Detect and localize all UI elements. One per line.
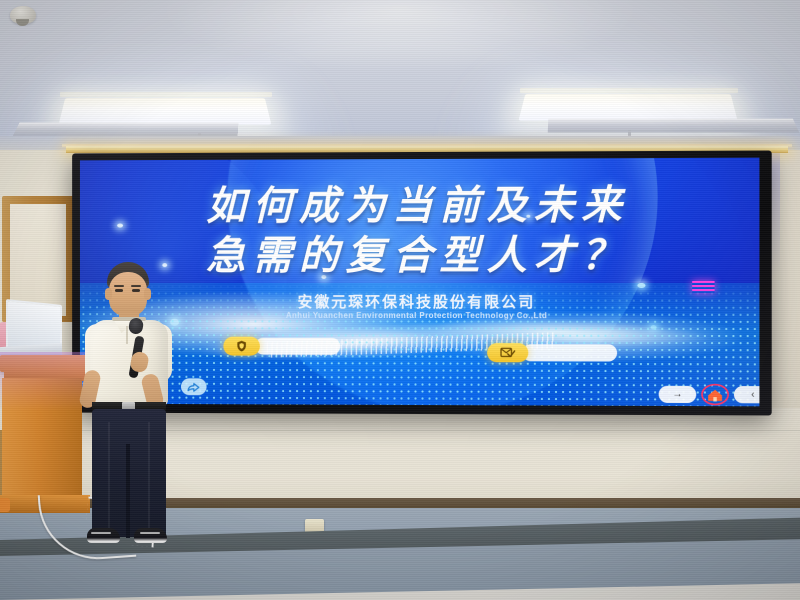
slide-badge-label-right	[522, 344, 617, 361]
ceiling-panel-light-right	[518, 94, 737, 121]
presentation-photo-scene: 如何成为当前及未来 急需的复合型人才？ 安徽元琛环保科技股份有限公司 Anhui…	[0, 0, 800, 600]
presenter-head	[109, 272, 147, 316]
smoke-detector-icon	[10, 6, 36, 24]
ac-vent-left	[12, 123, 238, 137]
presenter	[74, 262, 184, 552]
presenter-brow-right	[131, 285, 141, 287]
slide-badge-label-left	[255, 338, 340, 355]
presenter-trouser-gap	[126, 444, 130, 538]
door-panel-left	[10, 204, 66, 316]
shield-icon[interactable]	[223, 337, 260, 356]
mail-check-icon[interactable]	[487, 343, 528, 362]
share-icon[interactable]	[181, 378, 207, 395]
home-icon[interactable]	[700, 383, 730, 406]
presenter-shoe-right	[134, 528, 167, 543]
presenter-ear-left	[105, 288, 112, 300]
presenter-trouser-crease-right	[148, 422, 150, 534]
arrow-right-icon[interactable]: →	[659, 386, 697, 403]
presenter-ear-right	[144, 288, 151, 300]
presenter-shoe-stripe-right	[140, 532, 160, 534]
ceiling-panel-light-left	[59, 98, 272, 125]
presenter-eye-right	[132, 289, 140, 292]
orange-object-floor	[0, 498, 10, 512]
ceiling-panel-frame-left	[60, 92, 272, 97]
ceiling-panel-frame-right	[520, 88, 738, 93]
presenter-brow-left	[114, 285, 124, 287]
presenter-shoe-stripe-left	[91, 532, 111, 534]
presenter-trouser-crease-left	[108, 422, 110, 534]
slide-magenta-stripe-decor	[692, 281, 714, 293]
presenter-eye-left	[115, 289, 123, 292]
wooden-podium-body	[2, 378, 82, 508]
ac-vent-right	[548, 119, 800, 133]
presenter-shoe-left	[87, 528, 120, 543]
presenter-shirt-placket	[126, 326, 128, 344]
chevron-left-icon[interactable]: ‹	[734, 386, 760, 403]
